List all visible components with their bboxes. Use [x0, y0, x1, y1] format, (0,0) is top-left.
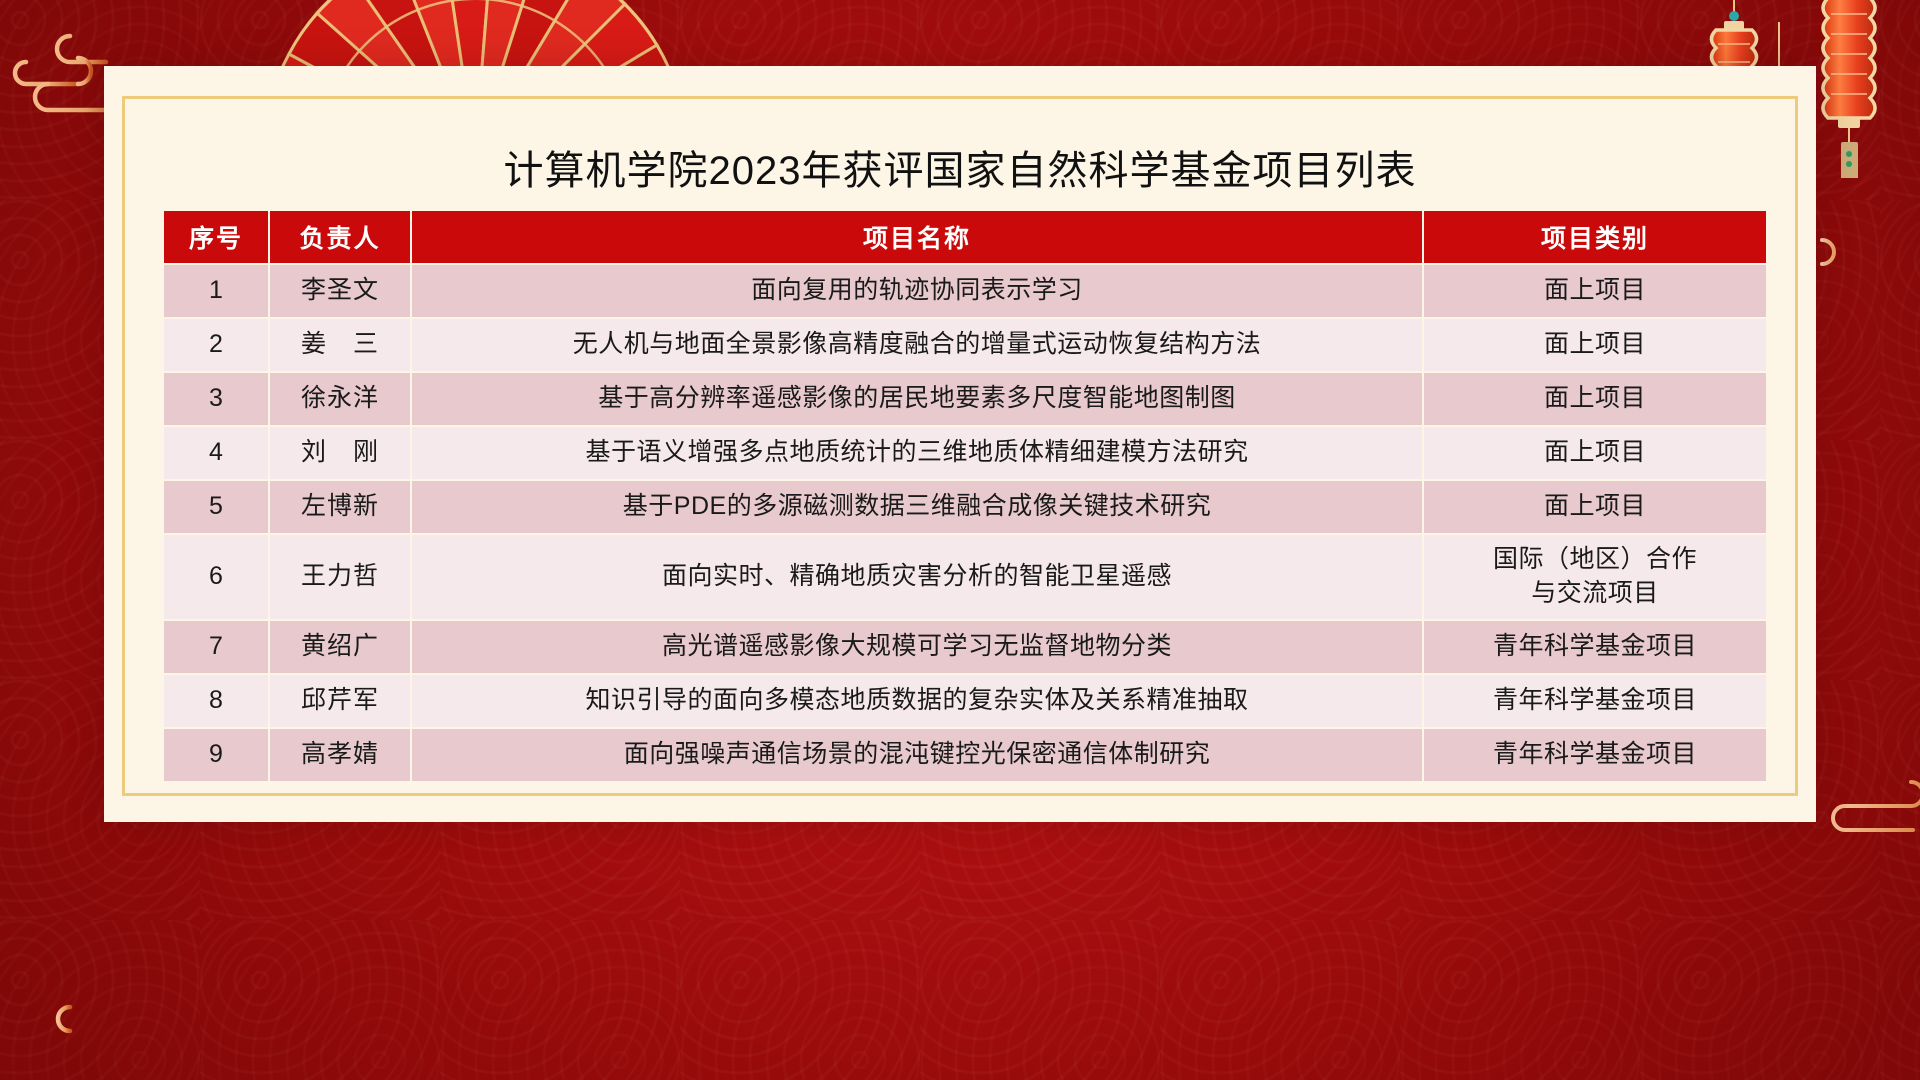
table-cell-index: 1	[164, 265, 268, 317]
projects-table: 序号 负责人 项目名称 项目类别 1李圣文面向复用的轨迹协同表示学习面上项目2姜…	[162, 209, 1768, 783]
table-cell-type: 面上项目	[1424, 481, 1766, 533]
table-cell-leader: 高孝婧	[270, 729, 410, 781]
table-cell-type: 青年科学基金项目	[1424, 729, 1766, 781]
table-row: 5左博新基于PDE的多源磁测数据三维融合成像关键技术研究面上项目	[164, 481, 1766, 533]
table-cell-leader: 姜 三	[270, 319, 410, 371]
table-row: 2姜 三无人机与地面全景影像高精度融合的增量式运动恢复结构方法面上项目	[164, 319, 1766, 371]
table-cell-leader: 黄绍广	[270, 621, 410, 673]
table-cell-name: 面向实时、精确地质灾害分析的智能卫星遥感	[412, 535, 1422, 619]
table-cell-type: 面上项目	[1424, 373, 1766, 425]
page-title: 计算机学院2023年获评国家自然科学基金项目列表	[104, 138, 1816, 196]
table-cell-index: 8	[164, 675, 268, 727]
table-cell-type: 国际（地区）合作与交流项目	[1424, 535, 1766, 619]
table-row: 3徐永洋基于高分辨率遥感影像的居民地要素多尺度智能地图制图面上项目	[164, 373, 1766, 425]
table-cell-index: 9	[164, 729, 268, 781]
table-cell-index: 4	[164, 427, 268, 479]
table-cell-index: 6	[164, 535, 268, 619]
table-cell-index: 7	[164, 621, 268, 673]
table-cell-index: 2	[164, 319, 268, 371]
table-cell-name: 基于高分辨率遥感影像的居民地要素多尺度智能地图制图	[412, 373, 1422, 425]
table-cell-type: 青年科学基金项目	[1424, 621, 1766, 673]
table-cell-leader: 李圣文	[270, 265, 410, 317]
table-cell-name: 面向强噪声通信场景的混沌键控光保密通信体制研究	[412, 729, 1422, 781]
table-cell-name: 知识引导的面向多模态地质数据的复杂实体及关系精准抽取	[412, 675, 1422, 727]
table-cell-leader: 邱芹军	[270, 675, 410, 727]
table-cell-leader: 刘 刚	[270, 427, 410, 479]
column-header-name: 项目名称	[412, 211, 1422, 263]
table-cell-name: 基于语义增强多点地质统计的三维地质体精细建模方法研究	[412, 427, 1422, 479]
table-row: 4刘 刚基于语义增强多点地质统计的三维地质体精细建模方法研究面上项目	[164, 427, 1766, 479]
table-header: 序号 负责人 项目名称 项目类别	[164, 211, 1766, 263]
table-cell-name: 无人机与地面全景影像高精度融合的增量式运动恢复结构方法	[412, 319, 1422, 371]
table-cell-leader: 徐永洋	[270, 373, 410, 425]
column-header-leader: 负责人	[270, 211, 410, 263]
table-cell-leader: 王力哲	[270, 535, 410, 619]
table-cell-leader: 左博新	[270, 481, 410, 533]
table-row: 8邱芹军知识引导的面向多模态地质数据的复杂实体及关系精准抽取青年科学基金项目	[164, 675, 1766, 727]
table-cell-index: 5	[164, 481, 268, 533]
column-header-index: 序号	[164, 211, 268, 263]
table-cell-name: 基于PDE的多源磁测数据三维融合成像关键技术研究	[412, 481, 1422, 533]
table-cell-name: 面向复用的轨迹协同表示学习	[412, 265, 1422, 317]
table-body: 1李圣文面向复用的轨迹协同表示学习面上项目2姜 三无人机与地面全景影像高精度融合…	[164, 265, 1766, 781]
table-row: 6王力哲面向实时、精确地质灾害分析的智能卫星遥感国际（地区）合作与交流项目	[164, 535, 1766, 619]
table-row: 9高孝婧面向强噪声通信场景的混沌键控光保密通信体制研究青年科学基金项目	[164, 729, 1766, 781]
table-cell-type: 面上项目	[1424, 265, 1766, 317]
column-header-type: 项目类别	[1424, 211, 1766, 263]
table-cell-type: 青年科学基金项目	[1424, 675, 1766, 727]
table-cell-type: 面上项目	[1424, 427, 1766, 479]
table-cell-index: 3	[164, 373, 268, 425]
table-row: 7黄绍广高光谱遥感影像大规模可学习无监督地物分类青年科学基金项目	[164, 621, 1766, 673]
table-header-row: 序号 负责人 项目名称 项目类别	[164, 211, 1766, 263]
content-card: 计算机学院2023年获评国家自然科学基金项目列表 序号 负责人 项目名称 项目类…	[104, 66, 1816, 822]
table-cell-type: 面上项目	[1424, 319, 1766, 371]
table-cell-name: 高光谱遥感影像大规模可学习无监督地物分类	[412, 621, 1422, 673]
table-row: 1李圣文面向复用的轨迹协同表示学习面上项目	[164, 265, 1766, 317]
